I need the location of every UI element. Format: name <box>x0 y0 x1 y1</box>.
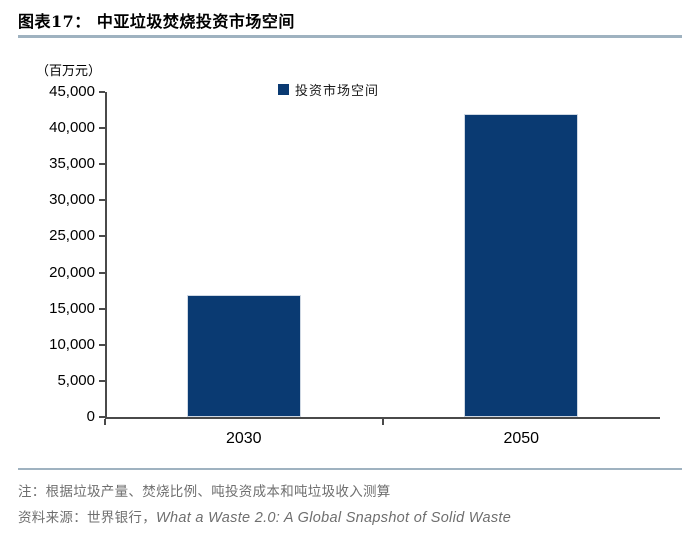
y-tick-mark <box>99 91 105 93</box>
y-tick-label: 5,000 <box>11 373 95 388</box>
y-tick-label: 45,000 <box>11 84 95 99</box>
x-tick-mark <box>382 419 384 425</box>
legend-item-label: 投资市场空间 <box>295 80 379 99</box>
title-divider <box>18 35 682 38</box>
y-tick-label: 40,000 <box>11 120 95 135</box>
chart-source: 资料来源：世界银行，What a Waste 2.0: A Global Sna… <box>18 506 511 526</box>
y-tick-mark <box>99 163 105 165</box>
y-tick-label: 10,000 <box>11 337 95 352</box>
footer-divider <box>18 468 682 470</box>
source-prefix: 资料来源：世界银行， <box>18 510 156 526</box>
y-tick-label: 25,000 <box>11 228 95 243</box>
y-tick-mark <box>99 380 105 382</box>
y-tick-mark <box>99 127 105 129</box>
y-tick-mark <box>99 272 105 274</box>
y-axis <box>105 92 107 418</box>
y-tick-label: 30,000 <box>11 192 95 207</box>
source-publication-title: What a Waste 2.0: A Global Snapshot of S… <box>156 510 511 526</box>
y-tick-mark <box>99 199 105 201</box>
y-tick-mark <box>99 235 105 237</box>
y-tick-label: 0 <box>11 409 95 424</box>
bar <box>187 295 301 417</box>
bar-chart: （百万元） 投资市场空间 45,00040,00035,00030,00025,… <box>0 42 700 460</box>
y-tick-label: 20,000 <box>11 265 95 280</box>
y-tick-label: 15,000 <box>11 301 95 316</box>
page-title: 图表17： 中亚垃圾焚烧投资市场空间 <box>18 8 295 32</box>
y-tick-mark <box>99 308 105 310</box>
y-tick-label: 35,000 <box>11 156 95 171</box>
x-tick-label: 2050 <box>461 430 581 448</box>
y-tick-mark <box>99 416 105 418</box>
y-tick-mark <box>99 344 105 346</box>
legend-swatch-icon <box>278 84 289 95</box>
x-tick-mark <box>104 419 106 425</box>
y-axis-unit-label: （百万元） <box>36 60 101 79</box>
chart-note: 注：根据垃圾产量、焚烧比例、吨投资成本和吨垃圾收入测算 <box>18 480 391 500</box>
chart-legend: 投资市场空间 <box>278 80 379 99</box>
x-tick-label: 2030 <box>184 430 304 448</box>
bar <box>464 114 578 417</box>
